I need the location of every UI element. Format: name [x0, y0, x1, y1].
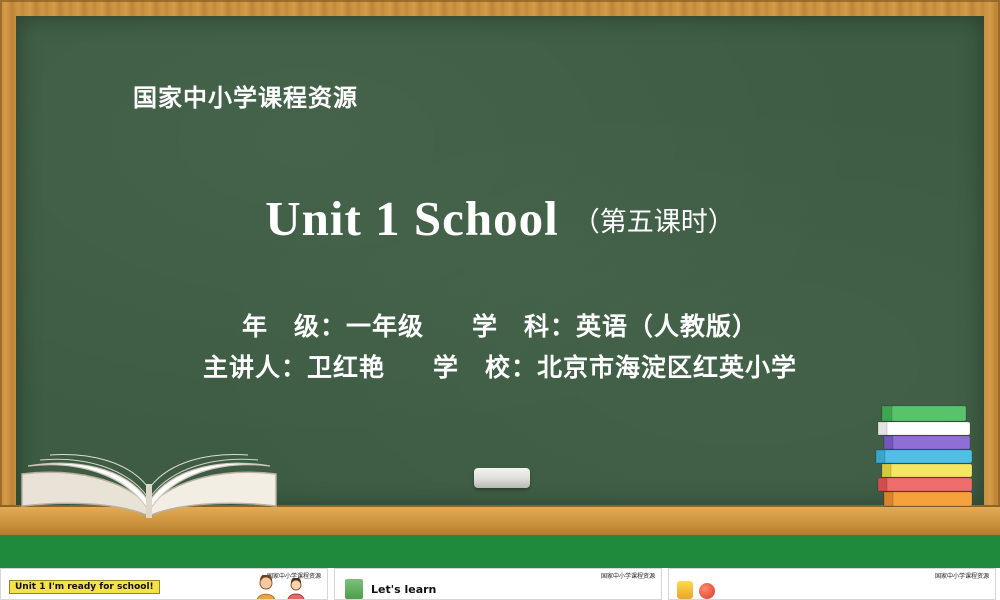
thumb-1-banner: Unit 1 I'm ready for school!: [9, 580, 160, 594]
school-value: 北京市海淀区红英小学: [537, 353, 797, 382]
current-slide: 国家中小学课程资源 Unit 1 School（第五课时） 年 级：一年级学 科…: [0, 0, 1000, 568]
teacher-label: 主讲人：: [203, 353, 307, 382]
slide-title: Unit 1 School（第五课时）: [0, 190, 1000, 247]
grade-label: 年 级：: [242, 312, 346, 341]
thumb-2-text: Let's learn: [371, 583, 436, 596]
book-icon: [345, 579, 363, 599]
presentation-stage: 国家中小学课程资源 Unit 1 School（第五课时） 年 级：一年级学 科…: [0, 0, 1000, 600]
subject-value: 英语（人教版）: [576, 312, 758, 341]
student-illustration-icon-2: [285, 578, 307, 600]
apple-icon: [699, 583, 715, 599]
bottom-green-strip: [0, 535, 1000, 568]
teacher-value: 卫红艳: [307, 353, 385, 382]
title-sub-text: （第五课时）: [573, 207, 735, 238]
grade-value: 一年级: [346, 312, 424, 341]
slide-thumb-1[interactable]: 国家中小学课程资源 Unit 1 I'm ready for school!: [0, 568, 328, 600]
student-illustration-icon: [253, 575, 279, 600]
eraser-icon: [474, 468, 530, 488]
brand-label: 国家中小学课程资源: [133, 78, 358, 113]
meta-row-teacher: 主讲人：卫红艳学 校：北京市海淀区红英小学: [0, 347, 1000, 388]
pencil-icon: [677, 581, 693, 599]
slide-thumb-3[interactable]: 国家中小学课程资源: [668, 568, 996, 600]
book-stack-icon: [868, 398, 990, 520]
title-main-text: Unit 1 School: [265, 191, 558, 246]
slide-thumb-2[interactable]: 国家中小学课程资源 Let's learn: [334, 568, 662, 600]
slide-thumbnail-strip[interactable]: 国家中小学课程资源 Unit 1 I'm ready for school! 国…: [0, 568, 1000, 600]
school-label: 学 校：: [433, 353, 537, 382]
open-book-icon: [14, 418, 284, 518]
thumb-3-brand: 国家中小学课程资源: [933, 570, 991, 581]
slide-meta-block: 年 级：一年级学 科：英语（人教版） 主讲人：卫红艳学 校：北京市海淀区红英小学: [0, 306, 1000, 388]
meta-row-grade: 年 级：一年级学 科：英语（人教版）: [0, 306, 1000, 347]
subject-label: 学 科：: [472, 312, 576, 341]
thumb-2-brand: 国家中小学课程资源: [599, 570, 657, 581]
